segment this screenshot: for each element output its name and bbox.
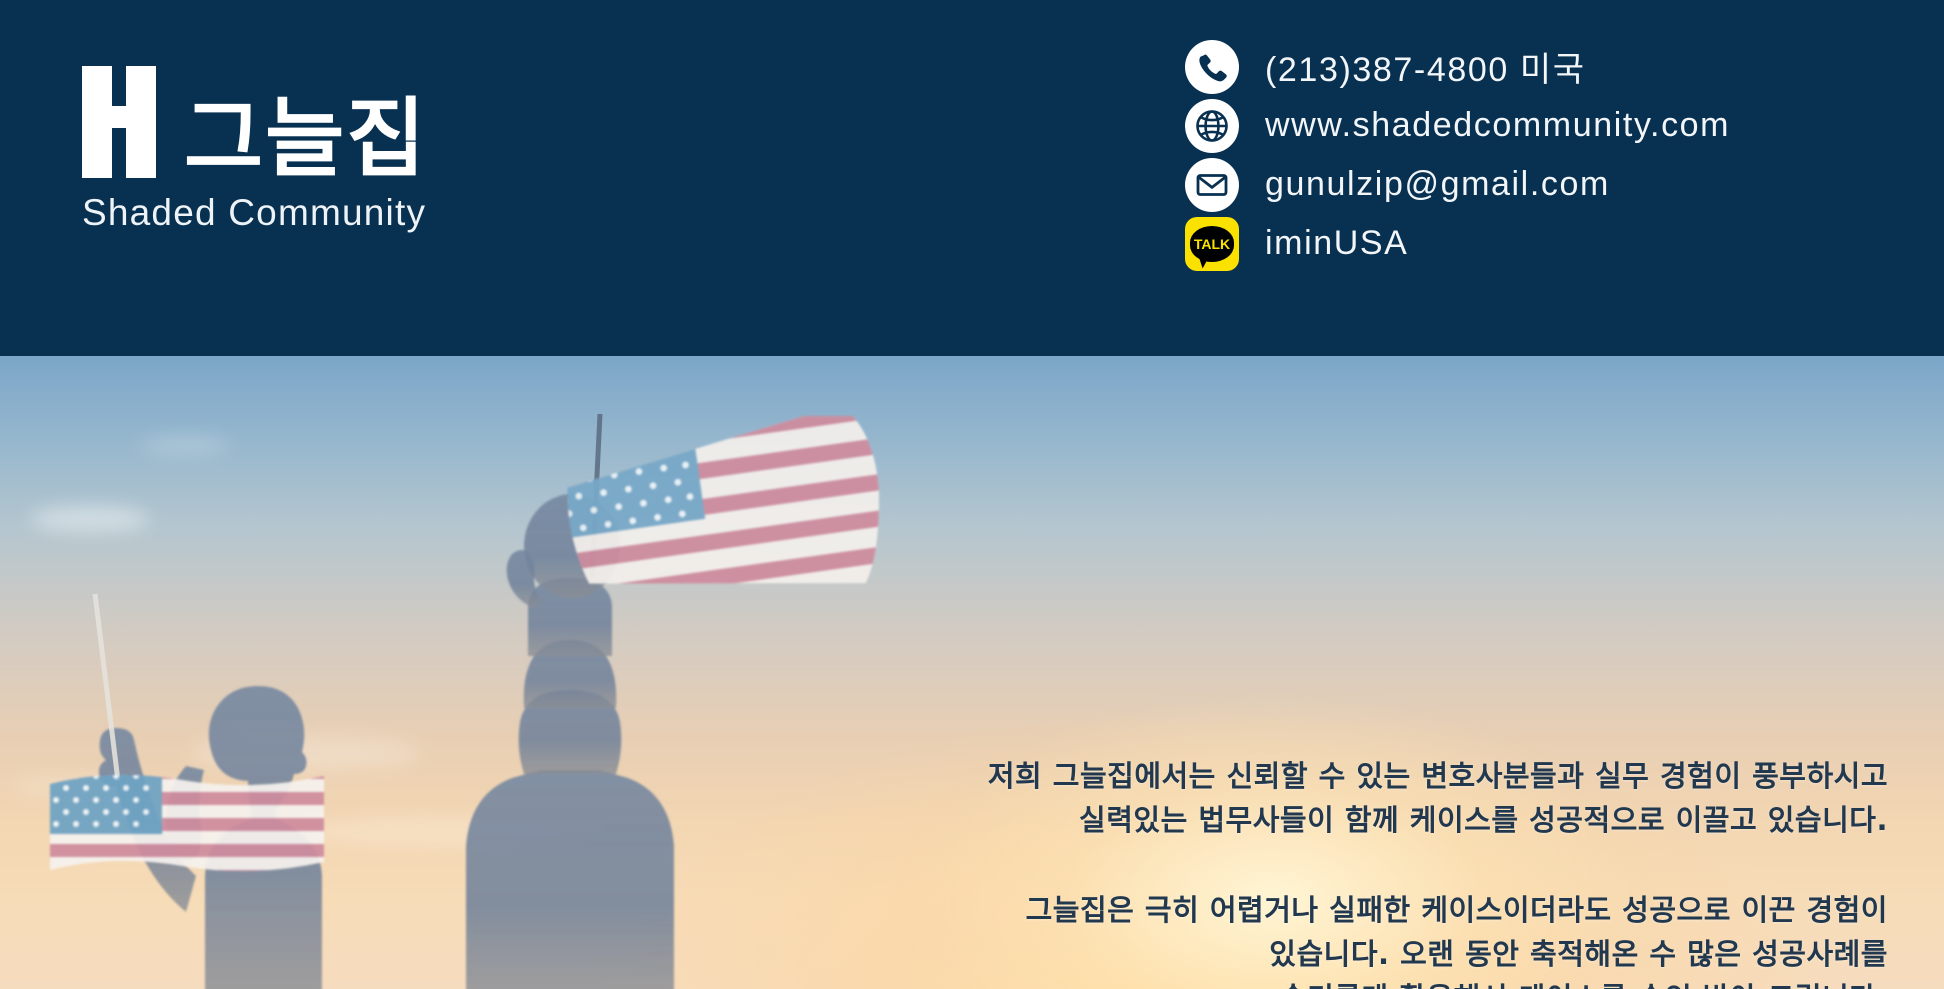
pillar-right-shape: [126, 66, 156, 178]
globe-icon: [1185, 99, 1239, 153]
contact-item-phone[interactable]: (213)387-4800 미국: [1185, 38, 1730, 95]
kakaotalk-icon: TALK: [1185, 217, 1239, 271]
brand-name-english: Shaded Community: [82, 192, 602, 234]
paragraph-2: 그늘집은 극히 어렵거나 실패한 케이스이더라도 성공으로 이끈 경험이 있습니…: [868, 888, 1888, 989]
pillar-mark-icon: [82, 66, 160, 178]
copy-line: 있습니다. 오랜 동안 축적해온 수 많은 성공사례를: [868, 932, 1888, 976]
hero-photo: 저희 그늘집에서는 신뢰할 수 있는 변호사분들과 실무 경험이 풍부하시고 실…: [0, 356, 1944, 989]
pillar-left-shape: [82, 66, 112, 178]
contact-value-kakaotalk: iminUSA: [1265, 224, 1408, 263]
us-flag-left: [42, 766, 332, 906]
copy-line: 저희 그늘집에서는 신뢰할 수 있는 변호사분들과 실무 경험이 풍부하시고: [868, 754, 1888, 798]
contact-value-phone: (213)387-4800 미국: [1265, 42, 1586, 91]
copy-line: 슬기롭게 활용해서 케이스를 승인 받아 드립니다.: [868, 976, 1888, 989]
contact-item-kakaotalk[interactable]: TALK iminUSA: [1185, 215, 1730, 272]
contact-item-email[interactable]: gunulzip@gmail.com: [1185, 156, 1730, 213]
brand-logo[interactable]: 그늘집 Shaded Community: [82, 60, 602, 234]
contact-value-email: gunulzip@gmail.com: [1265, 165, 1610, 204]
copy-line: 그늘집은 극히 어렵거나 실패한 케이스이더라도 성공으로 이끈 경험이: [868, 888, 1888, 932]
paragraph-1: 저희 그늘집에서는 신뢰할 수 있는 변호사분들과 실무 경험이 풍부하시고 실…: [868, 754, 1888, 842]
contact-value-website: www.shadedcommunity.com: [1265, 106, 1730, 145]
banner-header: 그늘집 Shaded Community (213)387-4800 미국: [0, 0, 1944, 356]
email-icon: [1185, 158, 1239, 212]
phone-icon: [1185, 40, 1239, 94]
body-copy: 저희 그늘집에서는 신뢰할 수 있는 변호사분들과 실무 경험이 풍부하시고 실…: [868, 754, 1888, 989]
brand-name-korean: 그늘집: [184, 96, 427, 182]
us-flag-right: [555, 416, 895, 616]
promo-banner: 그늘집 Shaded Community (213)387-4800 미국: [0, 0, 1944, 989]
contact-list: (213)387-4800 미국 w: [1185, 38, 1730, 274]
logo-row: 그늘집: [82, 60, 602, 178]
kakaotalk-badge-label: TALK: [1194, 237, 1230, 251]
copy-line: 실력있는 법무사들이 함께 케이스를 성공적으로 이끌고 있습니다.: [868, 798, 1888, 842]
contact-item-website[interactable]: www.shadedcommunity.com: [1185, 97, 1730, 154]
